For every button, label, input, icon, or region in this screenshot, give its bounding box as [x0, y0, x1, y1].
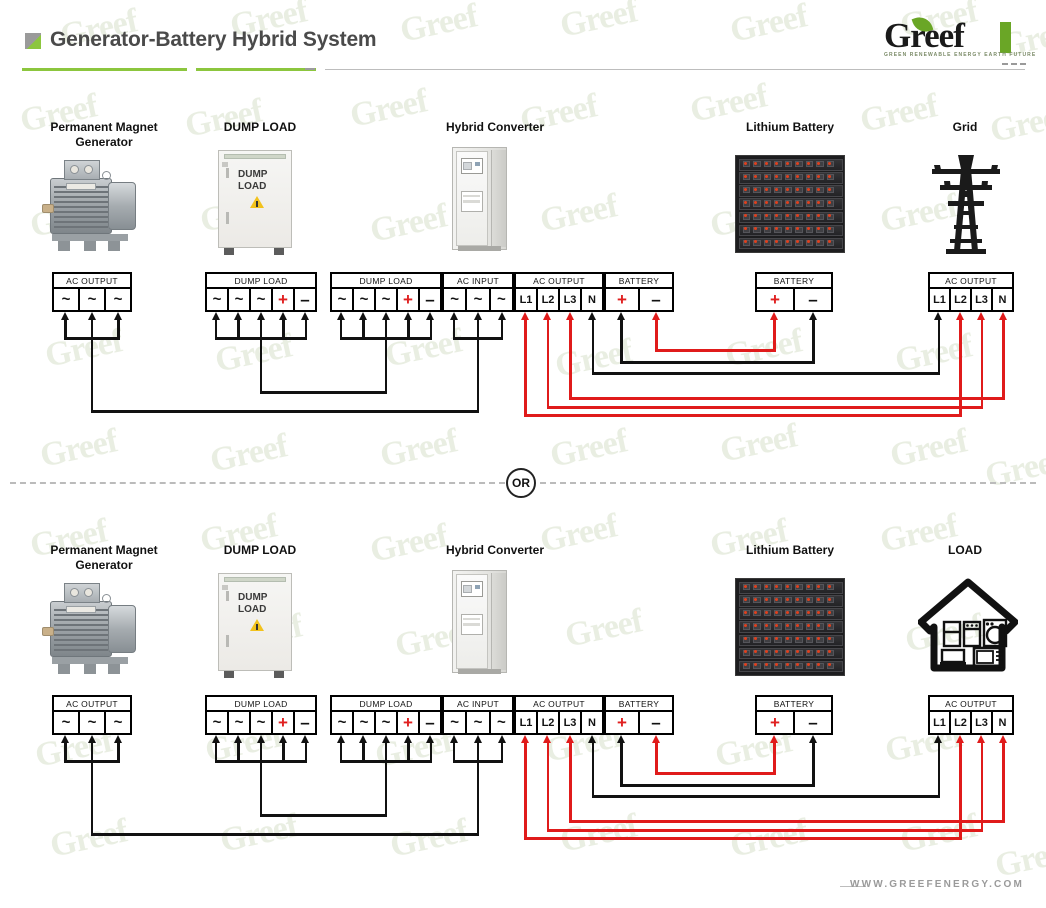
hybrid-converter-image	[452, 570, 511, 676]
battery-terminals-block-pin-1: +	[757, 712, 795, 733]
battery-arrow-minus	[809, 735, 817, 743]
load-arrow-n	[999, 735, 1007, 743]
gen-stub	[64, 743, 67, 760]
cdl-down	[385, 760, 388, 814]
generator-pin-arrow-3	[114, 735, 122, 743]
dl-stub	[282, 743, 285, 760]
converter-dumpload-block-pins: ~~~+–	[332, 712, 440, 733]
converter-dumpload-block-pin-1: ~	[332, 712, 354, 733]
converter-acinput-down	[477, 760, 480, 833]
converter-ac-input-block-pin-3: ~	[491, 712, 512, 733]
generator-pin-arrow-2	[88, 735, 96, 743]
last-l1-down	[938, 743, 941, 795]
dumpload-pin-arrow-2	[234, 735, 242, 743]
dl-down	[260, 760, 263, 814]
dump-load-box-label: DUMPLOAD	[238, 592, 290, 616]
gen-to-converter-bus	[91, 833, 480, 836]
generator-image	[42, 575, 160, 683]
dumpload-unit-block-pin-5: –	[295, 712, 315, 733]
footer-website: WWW.GREEFENERGY.COM	[850, 879, 1024, 890]
dumpload-pin-arrow-3	[257, 735, 265, 743]
converter-ac-input-block: AC INPUT~~~	[442, 695, 514, 735]
converter-dumpload-block-pin-5: –	[420, 712, 440, 733]
gen-stub	[91, 743, 94, 760]
batt-plus-down	[773, 743, 776, 772]
battery-terminals-block-pins: +–	[757, 712, 831, 733]
load-ac-output-block-pin-1: L1	[930, 712, 951, 733]
conv-n-bus	[592, 795, 941, 798]
conv-n-down	[592, 743, 595, 795]
converter-ac-output-block-pin-1: L1	[516, 712, 538, 733]
gen-down	[91, 760, 94, 833]
load-ac-output-block: AC OUTPUTL1L2L3N	[928, 695, 1014, 735]
cdl-stub	[340, 743, 343, 760]
battery-arrow-plus	[770, 735, 778, 743]
conv-batt-minus-bus	[655, 772, 776, 775]
generator-pin-arrow-1	[61, 735, 69, 743]
converter-acinput-arrow-2	[474, 735, 482, 743]
last-n-down	[1002, 743, 1005, 820]
cai-stub	[501, 743, 504, 760]
converter-dumpload-arrow-3	[382, 735, 390, 743]
conv-l1-down	[524, 743, 527, 837]
dl-to-converter-bus	[260, 814, 388, 817]
dl-stub	[305, 743, 308, 760]
conv-l3-bus	[569, 820, 1005, 823]
dumpload-unit-block-pin-2: ~	[229, 712, 251, 733]
lithium-battery-image	[735, 578, 845, 676]
converter-dumpload-arrow-1	[337, 735, 345, 743]
generator-ac-output-block-title: AC OUTPUT	[54, 697, 130, 712]
cdl-stub	[430, 743, 433, 760]
converter-acoutput-arrow-4	[588, 735, 596, 743]
load-ac-output-block-pins: L1L2L3N	[930, 712, 1012, 733]
load-ac-output-block-pin-3: L3	[972, 712, 993, 733]
battery-terminals-block-pin-2: –	[795, 712, 831, 733]
conv-batt-plus-down	[620, 743, 623, 784]
converter-dumpload-arrow-5	[426, 735, 434, 743]
cdl-stub	[385, 743, 388, 760]
conv-l2-down	[547, 743, 550, 829]
diagram-page: GreefGreefGreefGreefGreefGreefGreefGreef…	[0, 0, 1046, 908]
conv-l3-down	[569, 743, 572, 820]
caption-lithium-battery: Lithium Battery	[720, 543, 860, 558]
converter-ac-output-block-title: AC OUTPUT	[516, 697, 602, 712]
cdl-stub	[362, 743, 365, 760]
load-ac-output-block-pin-4: N	[993, 712, 1012, 733]
dl-stub	[260, 743, 263, 760]
load-arrow-l1	[934, 735, 942, 743]
converter-battery-block-title: BATTERY	[606, 697, 672, 712]
batt-minus-down	[812, 743, 815, 784]
converter-acinput-arrow-3	[498, 735, 506, 743]
converter-ac-output-block-pin-4: N	[582, 712, 602, 733]
generator-ac-output-block-pins: ~~~	[54, 712, 130, 733]
converter-terminal-group: DUMP LOAD~~~+–AC INPUT~~~AC OUTPUTL1L2L3…	[330, 695, 674, 735]
converter-acinput-arrow-1	[450, 735, 458, 743]
load-ac-output-block-pin-2: L2	[951, 712, 972, 733]
caption-pm-generator: Permanent MagnetGenerator	[34, 543, 174, 573]
converter-dumpload-block-pin-4: +	[398, 712, 420, 733]
converter-battery-block-pins: +–	[606, 712, 672, 733]
load-arrow-l2	[956, 735, 964, 743]
load-arrow-l3	[977, 735, 985, 743]
dumpload-unit-block-pin-4: +	[273, 712, 295, 733]
converter-dumpload-block-title: DUMP LOAD	[332, 697, 440, 712]
conv-batt-minus-down	[655, 743, 658, 772]
converter-battery-block: BATTERY+–	[604, 695, 674, 735]
gen-stub	[117, 743, 120, 760]
cai-stub	[453, 743, 456, 760]
converter-ac-input-block-pins: ~~~	[444, 712, 512, 733]
cdl-stub	[407, 743, 410, 760]
generator-ac-output-block-pin-3: ~	[106, 712, 130, 733]
converter-ac-output-block: AC OUTPUTL1L2L3N	[514, 695, 604, 735]
converter-dumpload-arrow-4	[404, 735, 412, 743]
converter-battery-arrow-minus	[652, 735, 660, 743]
conv-l2-bus	[547, 829, 984, 832]
load-house-image	[918, 578, 1018, 672]
converter-battery-block-pin-1: +	[606, 712, 640, 733]
dumpload-unit-block-pins: ~~~+–	[207, 712, 315, 733]
caption-dump-load: DUMP LOAD	[195, 543, 325, 558]
caption-last: LOAD	[910, 543, 1020, 558]
converter-acoutput-arrow-2	[543, 735, 551, 743]
battery-terminals-block-title: BATTERY	[757, 697, 831, 712]
generator-ac-output-block-pin-1: ~	[54, 712, 80, 733]
converter-ac-input-block-pin-1: ~	[444, 712, 467, 733]
last-l2-down	[959, 743, 962, 837]
converter-dumpload-block-pin-3: ~	[376, 712, 398, 733]
caption-hybrid-converter: Hybrid Converter	[415, 543, 575, 558]
converter-battery-block-pin-2: –	[640, 712, 672, 733]
dumpload-pin-arrow-5	[301, 735, 309, 743]
diagram-off-grid: Permanent MagnetGeneratorDUMP LOADHybrid…	[0, 0, 1046, 908]
converter-ac-output-block-pins: L1L2L3N	[516, 712, 602, 733]
converter-acoutput-arrow-1	[521, 735, 529, 743]
generator-ac-output-block: AC OUTPUT~~~	[52, 695, 132, 735]
converter-dumpload-arrow-2	[359, 735, 367, 743]
dumpload-unit-block: DUMP LOAD~~~+–	[205, 695, 317, 735]
converter-battery-arrow-plus	[617, 735, 625, 743]
dump-load-image: DUMPLOAD	[218, 573, 296, 681]
dumpload-unit-block-pin-1: ~	[207, 712, 229, 733]
conv-l1-bus	[524, 837, 962, 840]
converter-dumpload-block-pin-2: ~	[354, 712, 376, 733]
converter-dumpload-block: DUMP LOAD~~~+–	[330, 695, 442, 735]
converter-acoutput-arrow-3	[566, 735, 574, 743]
dumpload-unit-block-title: DUMP LOAD	[207, 697, 315, 712]
cai-stub	[477, 743, 480, 760]
battery-terminals-block: BATTERY+–	[755, 695, 833, 735]
dumpload-pin-arrow-4	[279, 735, 287, 743]
generator-ac-output-block-pin-2: ~	[80, 712, 106, 733]
conv-batt-plus-bus	[620, 784, 815, 787]
converter-ac-input-block-title: AC INPUT	[444, 697, 512, 712]
dumpload-unit-block-pin-3: ~	[251, 712, 273, 733]
dumpload-pin-arrow-1	[212, 735, 220, 743]
dl-stub	[237, 743, 240, 760]
converter-ac-output-block-pin-3: L3	[560, 712, 582, 733]
load-ac-output-block-title: AC OUTPUT	[930, 697, 1012, 712]
dl-stub	[215, 743, 218, 760]
converter-ac-input-block-pin-2: ~	[467, 712, 490, 733]
last-l3-down	[981, 743, 984, 829]
converter-ac-output-block-pin-2: L2	[538, 712, 560, 733]
